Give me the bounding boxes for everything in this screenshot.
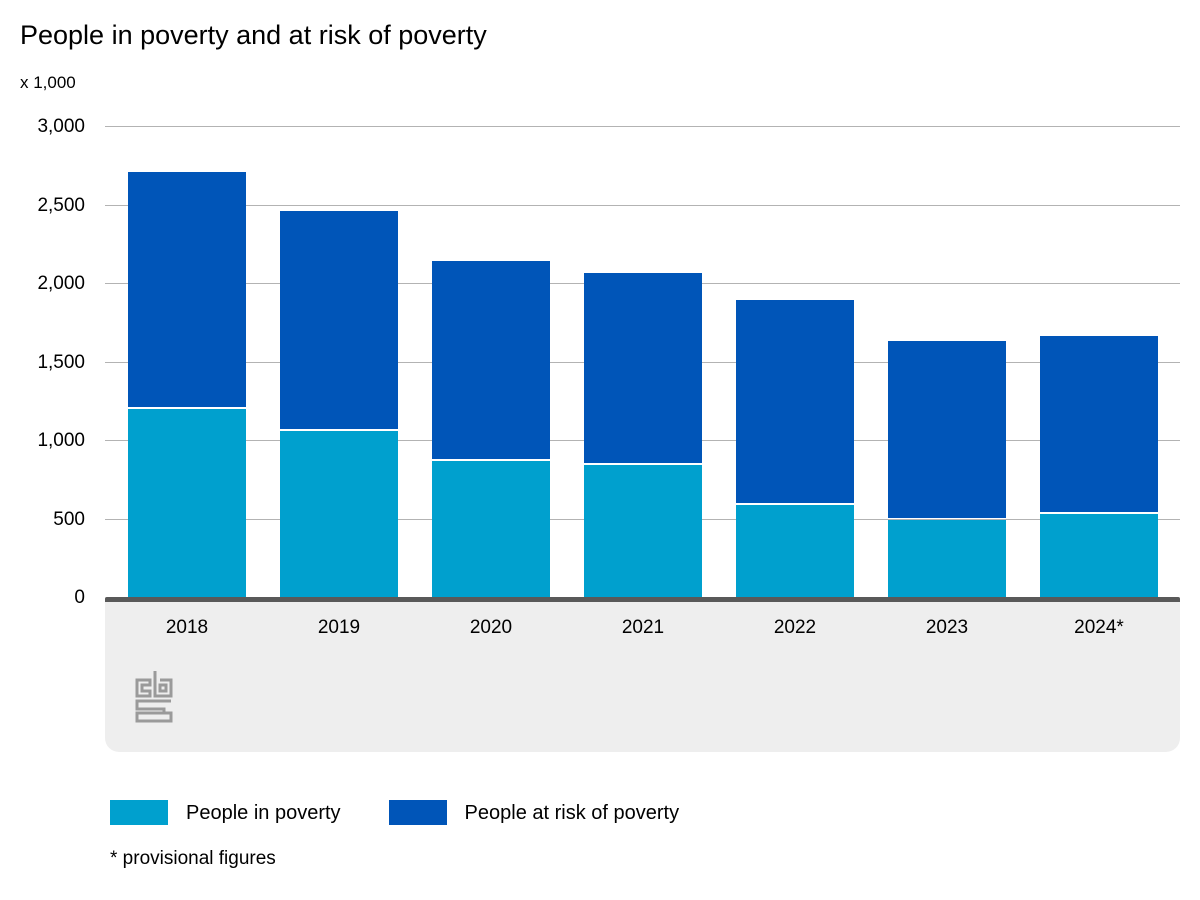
bar-segment[interactable] [128, 409, 246, 597]
y-axis-tick-label: 2,500 [0, 196, 85, 215]
bar-segment[interactable] [584, 273, 702, 463]
bar-segment[interactable] [888, 520, 1006, 597]
bar-segment[interactable] [432, 461, 550, 597]
legend-swatch [389, 800, 447, 825]
bar-segment[interactable] [584, 465, 702, 597]
legend-item[interactable]: People in poverty [110, 800, 341, 825]
y-axis-tick-label: 500 [0, 510, 85, 529]
legend-label: People at risk of poverty [465, 801, 680, 825]
y-axis-tick-label: 2,000 [0, 274, 85, 293]
x-axis-tick-label: 2020 [415, 617, 567, 639]
x-axis-tick-label: 2022 [719, 617, 871, 639]
footnote: * provisional figures [110, 847, 276, 871]
bar-segment[interactable] [736, 300, 854, 503]
legend-swatch [110, 800, 168, 825]
y-axis-tick-label: 0 [0, 588, 85, 607]
bar-segment[interactable] [128, 172, 246, 407]
y-axis-tick-label: 1,500 [0, 353, 85, 372]
bar-segment[interactable] [1040, 336, 1158, 512]
x-axis-tick-label: 2023 [871, 617, 1023, 639]
bar-segment[interactable] [736, 505, 854, 597]
bar-segment[interactable] [280, 431, 398, 597]
legend-label: People in poverty [186, 801, 341, 825]
bar-segment[interactable] [888, 341, 1006, 518]
bar-segment[interactable] [1040, 514, 1158, 597]
chart-container: People in poverty and at risk of poverty… [0, 0, 1200, 900]
chart-title: People in poverty and at risk of poverty [20, 18, 487, 52]
x-axis-tick-label: 2021 [567, 617, 719, 639]
legend-item[interactable]: People at risk of poverty [389, 800, 680, 825]
y-axis-tick-label: 3,000 [0, 117, 85, 136]
legend: People in povertyPeople at risk of pover… [110, 800, 727, 825]
x-axis-line [105, 597, 1180, 602]
x-axis-tick-label: 2024* [1023, 617, 1175, 639]
x-axis-tick-label: 2018 [111, 617, 263, 639]
axis-unit-label: x 1,000 [20, 72, 76, 94]
gridline [105, 205, 1180, 206]
plot-area [105, 126, 1180, 597]
y-axis-tick-label: 1,000 [0, 431, 85, 450]
bar-segment[interactable] [432, 261, 550, 460]
gridline [105, 126, 1180, 127]
x-axis-tick-label: 2019 [263, 617, 415, 639]
bar-segment[interactable] [280, 211, 398, 429]
cbs-logo [130, 668, 178, 726]
